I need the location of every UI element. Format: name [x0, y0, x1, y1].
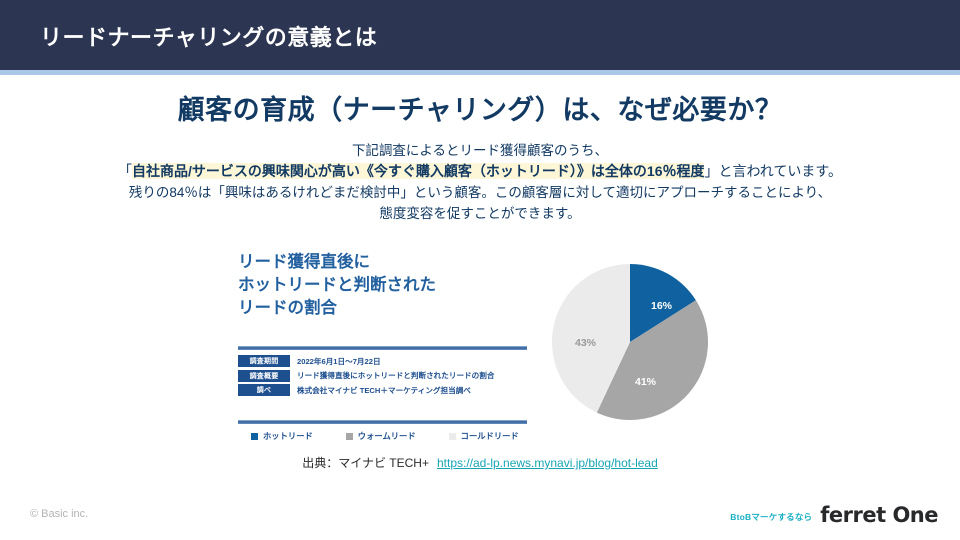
header-accent-strip [0, 70, 960, 75]
pie-chart-svg [550, 262, 710, 422]
page-header-title: リードナーチャリングの意義とは [40, 20, 377, 52]
infographic-heading-line-3: リードの割合 [238, 297, 436, 320]
table-row-label: 調査期間 [238, 355, 290, 367]
lead-line-2: 「自社商品/サービスの興味関心が高い《今すぐ購入顧客（ホットリード）》は全体の1… [0, 161, 960, 182]
infographic-heading-line-2: ホットリードと判断された [238, 274, 436, 297]
table-row: 調査期間 2022年6月1日〜7月22日 [238, 355, 533, 367]
header-bar: リードナーチャリングの意義とは [0, 0, 960, 70]
footer-brand-name: ferret One [820, 503, 938, 527]
legend-item-hot-lead: ホットリード [251, 430, 313, 442]
pie-chart: 16% 41% 43% [550, 262, 710, 422]
divider-above-table [238, 346, 527, 350]
source-label: 出典：マイナビ TECH+ [302, 456, 429, 470]
legend-swatch-icon [449, 433, 456, 440]
infographic-heading-line-1: リード獲得直後に [238, 251, 436, 274]
footer-copyright: © Basic inc. [30, 508, 88, 520]
legend-item-label: ウォームリード [358, 430, 416, 442]
lead-line-2-prefix: 「 [118, 163, 132, 179]
lead-line-2-suffix: 」と言われています。 [704, 163, 841, 179]
lead-line-3: 残りの84％は「興味はあるけれどまだ検討中」という顧客。この顧客層に対して適切に… [0, 182, 960, 203]
infographic-panel: リード獲得直後に ホットリードと判断された リードの割合 調査期間 2022年6… [225, 240, 765, 445]
legend-item-label: コールドリード [461, 430, 519, 442]
footer-logo: BtoBマーケするなら ferret One [730, 503, 938, 527]
legend-item-warm-lead: ウォームリード [346, 430, 416, 442]
pie-label-cold-lead: 43% [575, 337, 596, 349]
legend-swatch-icon [251, 433, 258, 440]
table-row: 調べ 株式会社マイナビ TECH＋マーケティング担当調べ [238, 384, 533, 396]
table-row-label: 調査概要 [238, 370, 290, 382]
source-link[interactable]: https://ad-lp.news.mynavi.jp/blog/hot-le… [437, 456, 658, 470]
table-row-value: リード獲得直後にホットリードと判断されたリードの割合 [297, 370, 494, 381]
survey-details-table: 調査期間 2022年6月1日〜7月22日 調査概要 リード獲得直後にホットリード… [238, 355, 533, 399]
lead-line-1: 下記調査によるとリード獲得顧客のうち、 [0, 140, 960, 161]
lead-line-4: 態度変容を促すことができます。 [0, 203, 960, 224]
pie-label-hot-lead: 16% [651, 300, 672, 312]
source-citation: 出典：マイナビ TECH+https://ad-lp.news.mynavi.j… [0, 454, 960, 471]
table-row-value: 2022年6月1日〜7月22日 [297, 356, 381, 367]
lead-line-2-emphasis: 自社商品/サービスの興味関心が高い《今すぐ購入顧客（ホットリード）》は全体の16… [132, 163, 704, 179]
infographic-heading: リード獲得直後に ホットリードと判断された リードの割合 [238, 251, 436, 320]
table-row-label: 調べ [238, 384, 290, 396]
chart-legend: ホットリード ウォームリード コールドリード [251, 430, 519, 442]
legend-item-label: ホットリード [263, 430, 313, 442]
lead-paragraph: 下記調査によるとリード獲得顧客のうち、 「自社商品/サービスの興味関心が高い《今… [0, 140, 960, 224]
legend-item-cold-lead: コールドリード [449, 430, 519, 442]
footer-tagline: BtoBマーケするなら [730, 511, 812, 527]
table-row-value: 株式会社マイナビ TECH＋マーケティング担当調べ [297, 385, 471, 396]
table-row: 調査概要 リード獲得直後にホットリードと判断されたリードの割合 [238, 370, 533, 382]
page-title: 顧客の育成（ナーチャリング）は、なぜ必要か？ [0, 88, 960, 127]
pie-label-warm-lead: 41% [635, 376, 656, 388]
legend-swatch-icon [346, 433, 353, 440]
divider-above-legend [238, 420, 527, 424]
infographic-left-column: リード獲得直後に ホットリードと判断された リードの割合 調査期間 2022年6… [225, 240, 535, 445]
